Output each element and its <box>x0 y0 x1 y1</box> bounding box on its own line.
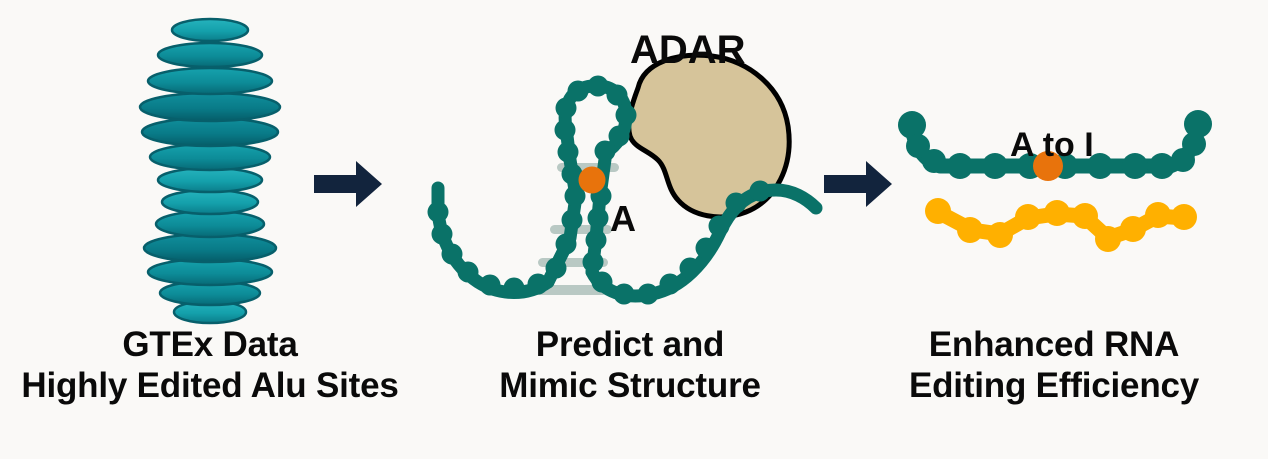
tissue-disc <box>162 190 258 214</box>
rna-bead <box>583 252 604 273</box>
rna-bead <box>428 202 449 223</box>
rna-bead <box>595 141 616 162</box>
rna-bead <box>432 224 453 245</box>
rna-bead <box>588 208 609 229</box>
rna-bead <box>556 98 577 119</box>
rna-bead <box>480 275 501 296</box>
rna-bead <box>546 258 567 279</box>
rna-bead <box>947 153 973 179</box>
rna-bead <box>1122 153 1148 179</box>
disc-stack-group <box>140 19 280 323</box>
rna-bead <box>1149 153 1175 179</box>
rna-bead <box>1145 202 1171 228</box>
tissue-disc <box>158 43 262 67</box>
caption-line: Predict and <box>420 325 840 366</box>
caption-line: Highly Edited Alu Sites <box>0 366 420 407</box>
rna-bead <box>558 142 579 163</box>
adenosine-label: A <box>610 198 636 240</box>
adenosine-edit-site-dot <box>579 167 606 194</box>
rna-bead <box>750 181 771 202</box>
rna-bead <box>1171 204 1197 230</box>
rna-bead <box>709 216 730 237</box>
rna-bead <box>504 278 525 299</box>
tissue-disc <box>172 19 248 41</box>
rna-bead <box>638 284 659 305</box>
rna-bead <box>957 217 983 243</box>
tissue-disc <box>148 68 272 94</box>
rna-bead <box>458 262 479 283</box>
edited-duplex-art <box>840 0 1268 330</box>
a-to-i-label: A to I <box>1010 126 1094 165</box>
rna-bead <box>1044 200 1070 226</box>
caption-line: Editing Efficiency <box>840 366 1268 407</box>
panel-enhanced-editing: A to I Enhanced RNA Editing Efficiency <box>840 0 1268 459</box>
rna-bead <box>660 274 681 295</box>
rna-bead <box>528 274 549 295</box>
rna-bead <box>588 76 609 97</box>
tissue-disc <box>140 93 280 121</box>
right-arrow-icon <box>312 158 384 210</box>
rna-bead <box>555 120 576 141</box>
rna-bead <box>696 238 717 259</box>
panel-enhanced-caption: Enhanced RNA Editing Efficiency <box>840 325 1268 407</box>
panel-gtex-data: GTEx Data Highly Edited Alu Sites <box>0 0 420 459</box>
panel-gtex-caption: GTEx Data Highly Edited Alu Sites <box>0 325 420 407</box>
rna-bead <box>592 272 613 293</box>
rna-bead <box>614 284 635 305</box>
rna-bead <box>726 193 747 214</box>
yellow-strand-beads <box>925 198 1197 252</box>
rna-bead <box>922 149 946 173</box>
rna-bead <box>586 230 607 251</box>
rna-bead <box>556 234 577 255</box>
rna-bead <box>562 210 583 231</box>
tissue-disc <box>150 144 270 170</box>
rna-bead <box>1120 216 1146 242</box>
panel-predict-caption: Predict and Mimic Structure <box>420 325 840 407</box>
adar-label: ADAR <box>630 28 746 73</box>
rna-bead <box>442 244 463 265</box>
rna-bead <box>1015 204 1041 230</box>
figure-canvas: GTEx Data Highly Edited Alu Sites <box>0 0 1268 459</box>
rna-bead <box>1072 203 1098 229</box>
rna-bead <box>987 222 1013 248</box>
rna-bead <box>680 258 701 279</box>
rna-bead <box>982 153 1008 179</box>
panel-predict-structure: ADAR A Predict and Mimic Structure <box>420 0 840 459</box>
caption-line: Enhanced RNA <box>840 325 1268 366</box>
caption-line: GTEx Data <box>0 325 420 366</box>
rna-bead <box>1095 226 1121 252</box>
rna-bead <box>616 105 637 126</box>
rna-bead <box>1184 110 1212 138</box>
rna-bead <box>925 198 951 224</box>
rna-bead <box>568 81 589 102</box>
rna-bead <box>607 85 628 106</box>
caption-line: Mimic Structure <box>420 366 840 407</box>
tissue-disc <box>158 168 262 192</box>
